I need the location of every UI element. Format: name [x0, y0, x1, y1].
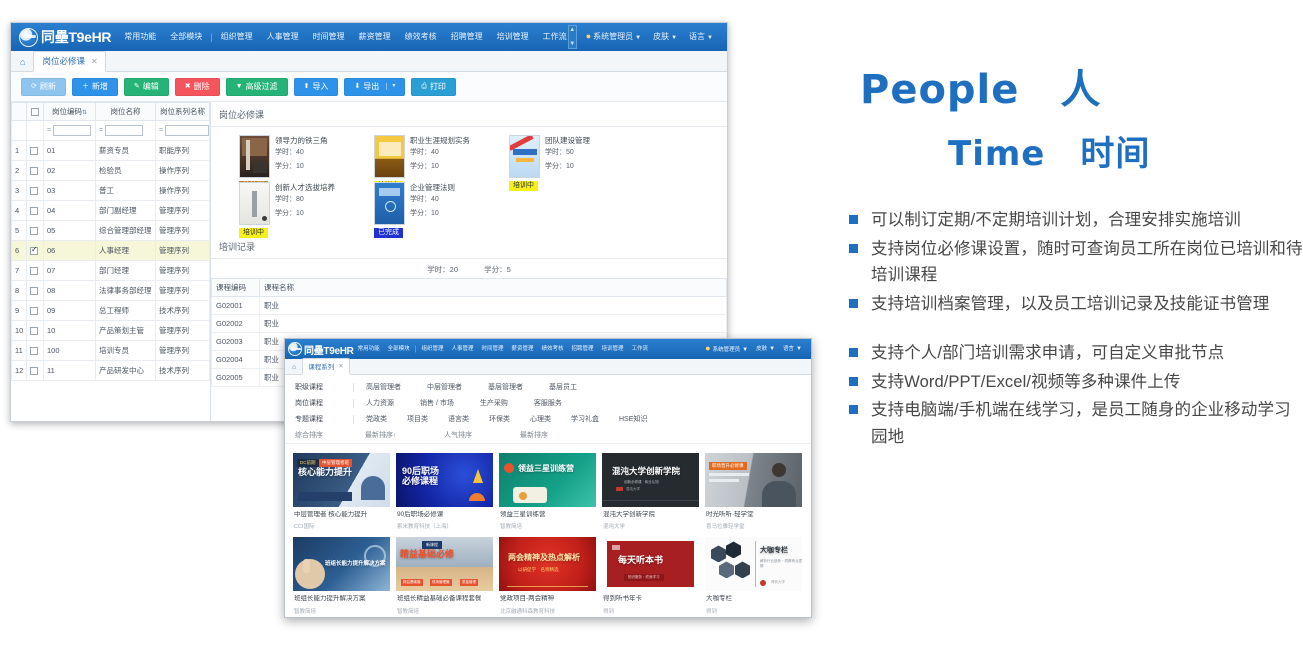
- row-checkbox[interactable]: [30, 167, 38, 175]
- cell-code: 09: [44, 300, 96, 320]
- window1-brand: 同壘T9eHR: [15, 27, 117, 47]
- course-title: 中层管理者 核心能力提升: [294, 511, 388, 519]
- nav-item-7[interactable]: 绩效考核: [538, 339, 568, 359]
- sort-asc-icon: ↑: [393, 433, 396, 439]
- course-name: 领导力的铁三角: [275, 135, 328, 146]
- course-card-row: 领导力的铁三角 学时：40 学分：10 待培训 职业生涯规划实务: [239, 135, 727, 178]
- window2-top-navbar: 同壘T9eHR 常用功能 全部模块 | 组织管理 人事管理 时间管理 薪资管理 …: [285, 339, 811, 359]
- nav-item-5[interactable]: 时间管理: [477, 339, 507, 359]
- col-position-code[interactable]: 岗位编码⇅: [44, 102, 96, 120]
- filter-option[interactable]: 中层管理者: [427, 382, 462, 392]
- cell-name: 部门经理: [96, 260, 156, 280]
- filter-option[interactable]: 客服服务: [534, 398, 562, 408]
- course-org: 北京融通科森教育科技: [500, 604, 594, 615]
- table-row[interactable]: 505综合管理部经理管理序列: [12, 220, 210, 240]
- filter-option[interactable]: 人力资源: [366, 398, 394, 408]
- position-table: 岗位编码⇅ 岗位名称 岗位系列名称 = = = 101: [11, 102, 210, 381]
- filter-option[interactable]: 基层员工: [549, 382, 577, 392]
- table-row[interactable]: 909总工程师技术序列: [12, 300, 210, 320]
- table-row[interactable]: 101薪资专员职能序列: [12, 140, 210, 160]
- filter-row-topic: 专题课程 党政类 项目类 语言类 环保类 心理类 学习礼盒 HSE知识: [285, 411, 811, 427]
- course-hours: 学时：40: [275, 146, 328, 160]
- table-row[interactable]: 202检验员操作序列: [12, 160, 210, 180]
- cell-series: 管理序列: [156, 200, 210, 220]
- window1-toolbar: ⟳刷新 ＋新增 ✎编辑 ✖删除 ▼高级过滤 ⬆导入 ⬇导出▾ ⎙打印: [11, 72, 727, 102]
- nav-item-6[interactable]: 薪资管理: [507, 339, 537, 359]
- cell-name: 综合管理部经理: [96, 220, 156, 240]
- chevron-down-icon: ▼: [635, 35, 641, 41]
- download-icon: ⬇: [354, 83, 360, 91]
- cell-name: 法律事务部经理: [96, 280, 156, 300]
- feature-description-panel: People 人 Time 时间 可以制订定期/不定期培训计划，合理安排实施培训…: [845, 0, 1303, 660]
- slide-canvas: 同壘T9eHR 常用功能 全部模块 | 组织管理 人事管理 时间管理 薪资管理 …: [0, 0, 1303, 660]
- row-checkbox[interactable]: [30, 227, 38, 235]
- select-all-checkbox[interactable]: [31, 108, 39, 116]
- plus-icon: ＋: [82, 83, 89, 91]
- tab-label: 岗位必修课: [42, 55, 85, 67]
- col-position-name[interactable]: 岗位名称: [96, 102, 156, 120]
- course-thumbnail: 班组长能力提升解决方案: [293, 537, 390, 591]
- course-thumbnail: 两会精神及热点解析 以研促学 名师精选: [499, 537, 596, 591]
- catalog-card[interactable]: 大咖专栏 解析行业趋势・洞察商业逻辑 得到大学 大咖专栏 得到: [705, 537, 802, 616]
- course-catalog-grid: DC前期 中层管理者班 核心能力提升 中层管理者 核心能力提升 CCI国际 90…: [285, 446, 811, 617]
- user-icon: ●: [586, 31, 591, 41]
- cell-name: 产品研发中心: [96, 360, 156, 380]
- bullet-square-icon: [849, 215, 858, 224]
- bullet-text: 支持培训档案管理，以及员工培训记录及技能证书管理: [871, 291, 1269, 318]
- export-button[interactable]: ⬇导出▾: [344, 78, 405, 96]
- course-card[interactable]: 创新人才选拔培养 学时：80 学分：10 培训中: [239, 182, 374, 225]
- language-menu[interactable]: 语言▼: [683, 23, 719, 52]
- cell-series: 操作序列: [156, 180, 210, 200]
- row-checkbox[interactable]: [30, 347, 38, 355]
- cross-icon: ✖: [185, 83, 191, 91]
- brand-name: 同壘T9eHR: [302, 342, 354, 357]
- card-body: 班组长精益基础必备课程套餐 智教简培: [396, 591, 493, 616]
- tab-course-series[interactable]: 课程系列 ✕: [302, 358, 349, 375]
- nav-item-10[interactable]: 工作流: [536, 23, 568, 51]
- cover-enterprise-icon: [374, 182, 405, 225]
- filter-option[interactable]: 环保类: [489, 414, 510, 424]
- cell-series: 职能序列: [156, 140, 210, 160]
- chevron-down-icon: ▼: [742, 347, 748, 353]
- card-body: 混沌大学创新学院 混沌大学: [602, 507, 699, 532]
- course-title: 党政项目-两会精神: [500, 595, 594, 603]
- course-thumbnail: 大咖专栏 解析行业趋势・洞察商业逻辑 得到大学: [705, 537, 802, 591]
- table-row[interactable]: G02001职业: [212, 296, 727, 314]
- filter-label: 职级课程: [295, 382, 353, 392]
- cell-series: 操作序列: [156, 160, 210, 180]
- nav-item-7[interactable]: 绩效考核: [398, 23, 444, 51]
- course-credits: 学分：10: [275, 160, 328, 174]
- cell-name: 总工程师: [96, 300, 156, 320]
- edit-button[interactable]: ✎编辑: [124, 78, 169, 96]
- course-hours: 学时：40: [410, 193, 455, 207]
- table-row[interactable]: G02002职业: [212, 314, 727, 332]
- course-org: CCI国际: [294, 519, 388, 530]
- catalog-card[interactable]: 职场晋升必修课 时光听听·轻学堂 喜马拉雅轻学堂: [705, 453, 802, 532]
- nav-item-4[interactable]: 人事管理: [447, 339, 477, 359]
- course-title: 混沌大学创新学院: [603, 511, 697, 519]
- catalog-card[interactable]: 混沌大学创新学院 创新必修课 · 商业认知 混沌大学 混沌大学创新学院 混沌大学: [602, 453, 699, 532]
- sort-bar: 综合排序 最新排序↑ 人气排序 最新排序: [285, 427, 811, 444]
- course-title: 大咖专栏: [706, 595, 800, 603]
- nav-item-0[interactable]: 常用功能: [354, 339, 384, 359]
- nav-item-9[interactable]: 培训管理: [490, 23, 536, 51]
- required-courses-list: 领导力的铁三角 学时：40 学分：10 待培训 职业生涯规划实务: [211, 127, 727, 233]
- nav-item-6[interactable]: 薪资管理: [352, 23, 398, 51]
- bullet-square-icon: [849, 244, 858, 253]
- catalog-card[interactable]: 每天听本书 知识服务・终身学习 得到听书年卡 得到: [602, 537, 699, 616]
- cell-code: 100: [44, 340, 96, 360]
- user-menu[interactable]: ●系统管理员▼: [580, 22, 647, 52]
- heading-people: People 人: [860, 57, 1101, 115]
- filter-input-code[interactable]: [53, 125, 91, 136]
- course-credits: 学分：10: [410, 207, 455, 221]
- filter-input-name[interactable]: [105, 125, 143, 136]
- row-checkbox[interactable]: [30, 287, 38, 295]
- nav-scroll-control[interactable]: ▲▼: [568, 25, 577, 49]
- course-credits: 学分：10: [275, 207, 335, 221]
- filter-option[interactable]: 基层管理者: [488, 382, 523, 392]
- course-org: 智教简培: [397, 604, 491, 615]
- catalog-card[interactable]: 新课程 精益基础必修 精益基础篇 现场管理篇 质量管理 班组长精益基础必备课程套…: [396, 537, 493, 616]
- filter-row-rank: 职级课程 高层管理者 中层管理者 基层管理者 基层员工: [285, 379, 811, 395]
- col-rownum: [12, 102, 27, 120]
- table-header-row: 岗位编码⇅ 岗位名称 岗位系列名称: [12, 102, 210, 120]
- training-records-heading: 培训记录: [211, 233, 727, 259]
- card-body: 领益三星训练营 智教简培: [499, 507, 596, 532]
- catalog-card[interactable]: 班组长能力提升解决方案 班组长能力提升解决方案 智教简培: [293, 537, 390, 616]
- row-checkbox[interactable]: [30, 187, 38, 195]
- user-menu[interactable]: ●系统管理员▼: [701, 338, 752, 364]
- course-thumbnail: 领益三星训练营: [499, 453, 596, 507]
- cell-series: 管理序列: [156, 340, 210, 360]
- bullet-text: 支持个人/部门培训需求申请，可自定义审批节点: [871, 340, 1224, 367]
- course-thumbnail: 职场晋升必修课: [705, 453, 802, 507]
- sort-latest[interactable]: 最新排序: [520, 430, 548, 440]
- bullet-square-icon: [849, 377, 858, 386]
- course-card-row: 创新人才选拔培养 学时：80 学分：10 培训中: [239, 182, 727, 225]
- course-hours: 学时：50: [545, 146, 590, 160]
- bullet-item: 支持Word/PPT/Excel/视频等多种课件上传: [847, 369, 1303, 396]
- col-select-all[interactable]: [27, 102, 44, 120]
- bullet-text: 可以制订定期/不定期培训计划，合理安排实施培训: [871, 207, 1241, 234]
- filter-option[interactable]: 高层管理者: [366, 382, 401, 392]
- import-button[interactable]: ⬆导入: [294, 78, 339, 96]
- row-checkbox[interactable]: [30, 367, 38, 375]
- window1-tabbar: ⌂ 岗位必修课 ✕: [11, 51, 727, 72]
- cell-series: 技术序列: [156, 300, 210, 320]
- cell-series: 技术序列: [156, 360, 210, 380]
- home-icon[interactable]: ⌂: [17, 57, 33, 71]
- language-menu[interactable]: 语言▼: [779, 338, 806, 363]
- course-title: 时光听听·轻学堂: [706, 511, 800, 519]
- course-thumbnail: 每天听本书 知识服务・终身学习: [602, 537, 699, 591]
- course-name: 团队建设管理: [545, 135, 590, 146]
- course-org: 索米教育科技（上海）: [397, 519, 491, 530]
- funnel-icon: ▼: [236, 83, 243, 91]
- home-icon[interactable]: ⌂: [290, 364, 302, 374]
- window1-nav-items: 常用功能 全部模块 | 组织管理 人事管理 时间管理 薪资管理 绩效考核 招聘管…: [117, 23, 568, 51]
- cell-series: 管理序列: [156, 320, 210, 340]
- nav-item-5[interactable]: 时间管理: [306, 23, 352, 51]
- nav-item-4[interactable]: 人事管理: [260, 23, 306, 51]
- window2-nav-items: 常用功能 全部模块 | 组织管理 人事管理 时间管理 薪资管理 绩效考核 招聘管…: [354, 339, 702, 359]
- course-info: 职业生涯规划实务 学时：40 学分：10: [410, 135, 470, 178]
- col-position-series[interactable]: 岗位系列名称: [156, 102, 210, 120]
- app-logo-icon: [288, 342, 302, 356]
- bullet-group-spacer: [847, 320, 1303, 340]
- row-checkbox[interactable]: [30, 307, 38, 315]
- course-org: 智教简培: [500, 519, 594, 530]
- bullet-item: 支持岗位必修课设置，随时可查询员工所在岗位已培训和待培训课程: [847, 236, 1303, 289]
- sort-icon: ⇅: [82, 110, 87, 116]
- course-info: 团队建设管理 学时：50 学分：10: [545, 135, 590, 178]
- filter-divider: [353, 399, 354, 408]
- nav-item-8[interactable]: 招聘管理: [444, 23, 490, 51]
- row-checkbox[interactable]: [30, 247, 38, 255]
- cell-code: 07: [44, 260, 96, 280]
- print-button[interactable]: ⎙打印: [411, 78, 456, 96]
- course-card[interactable]: 企业管理法则 学时：40 学分：10 已完成: [374, 182, 509, 225]
- course-name: 企业管理法则: [410, 182, 455, 193]
- catalog-card[interactable]: DC前期 中层管理者班 核心能力提升 中层管理者 核心能力提升 CCI国际: [293, 453, 390, 532]
- heading-time: Time 时间: [948, 126, 1150, 175]
- cell-name: 普工: [96, 180, 156, 200]
- bullet-square-icon: [849, 299, 858, 308]
- filter-option[interactable]: 心理类: [530, 414, 551, 424]
- course-name: 职业生涯规划实务: [410, 135, 470, 146]
- bullet-item: 支持个人/部门培训需求申请，可自定义审批节点: [847, 340, 1303, 367]
- catalog-card[interactable]: 90后职场必修课程 90后职场必修课 索米教育科技（上海）: [396, 453, 493, 532]
- summary-hours: 学时：20: [427, 265, 458, 274]
- advanced-filter-button[interactable]: ▼高级过滤: [226, 78, 288, 96]
- course-info: 领导力的铁三角 学时：40 学分：10: [275, 135, 328, 178]
- row-checkbox[interactable]: [30, 147, 38, 155]
- catalog-card[interactable]: 两会精神及热点解析 以研促学 名师精选 党政项目-两会精神 北京融通科森教育科技: [499, 537, 596, 616]
- course-catalog-window-front: 同壘T9eHR 常用功能 全部模块 | 组织管理 人事管理 时间管理 薪资管理 …: [284, 338, 812, 618]
- card-body: 90后职场必修课 索米教育科技（上海）: [396, 507, 493, 532]
- window2-nav-right: ●系统管理员▼ 皮肤▼ 语言▼: [701, 338, 808, 364]
- brand-name: 同壘T9eHR: [41, 27, 111, 47]
- filter-option[interactable]: 学习礼盒: [571, 414, 599, 424]
- chevron-down-icon: ▼: [707, 35, 713, 41]
- cell-series: 管理序列: [156, 260, 210, 280]
- status-badge: 培训中: [239, 228, 268, 239]
- filter-option[interactable]: 销售 / 市场: [420, 398, 454, 408]
- filter-row-position: 岗位课程 人力资源 销售 / 市场 生产采购 客服服务: [285, 395, 811, 411]
- course-thumbnail: DC前期 中层管理者班 核心能力提升: [293, 453, 390, 507]
- skin-menu[interactable]: 皮肤▼: [752, 338, 779, 363]
- bullet-square-icon: [849, 405, 858, 414]
- filter-option[interactable]: 生产采购: [480, 398, 508, 408]
- course-name: 创新人才选拔培养: [275, 182, 335, 193]
- cell-code: 11: [44, 360, 96, 380]
- filter-option[interactable]: 语言类: [448, 414, 469, 424]
- upload-icon: ⬆: [304, 83, 310, 91]
- filter-label: 岗位课程: [295, 398, 353, 408]
- cell-name: 部门副经理: [96, 200, 156, 220]
- card-body: 大咖专栏 得到: [705, 591, 802, 616]
- bullet-text: 支持Word/PPT/Excel/视频等多种课件上传: [871, 369, 1180, 396]
- table-row-selected[interactable]: 606人事经理管理序列: [12, 240, 210, 260]
- course-title: 班组长精益基础必备课程套餐: [397, 595, 491, 603]
- filter-label: 专题课程: [295, 414, 353, 424]
- nav-item-8[interactable]: 招聘管理: [568, 339, 598, 359]
- pencil-icon: ✎: [134, 83, 140, 91]
- cell-name: 人事经理: [96, 240, 156, 260]
- cell-code: 10: [44, 320, 96, 340]
- table-row[interactable]: 303普工操作序列: [12, 180, 210, 200]
- training-summary: 学时：20 学分：5: [211, 259, 727, 278]
- bullet-text: 支持岗位必修课设置，随时可查询员工所在岗位已培训和待培训课程: [871, 236, 1303, 289]
- app-logo-icon: [19, 28, 38, 47]
- course-org: 混沌大学: [603, 519, 697, 530]
- course-thumbnail: 混沌大学创新学院 创新必修课 · 商业认知 混沌大学: [602, 453, 699, 507]
- sort-popular[interactable]: 人气排序: [444, 430, 472, 440]
- status-badge: 已完成: [374, 228, 403, 239]
- cell-code: 01: [44, 140, 96, 160]
- close-icon[interactable]: ✕: [91, 57, 98, 66]
- filter-option[interactable]: HSE知识: [619, 414, 647, 424]
- nav-item-3[interactable]: 组织管理: [417, 339, 447, 359]
- course-filters: 职级课程 高层管理者 中层管理者 基层管理者 基层员工 岗位课程 人力资源 销售…: [285, 375, 811, 446]
- filter-cell-name[interactable]: =: [96, 120, 156, 140]
- nav-item-0[interactable]: 常用功能: [117, 23, 163, 51]
- cell-name: 产品策划主管: [96, 320, 156, 340]
- table-row[interactable]: 808法律事务部经理管理序列: [12, 280, 210, 300]
- bullet-item: 支持培训档案管理，以及员工培训记录及技能证书管理: [847, 291, 1303, 318]
- cell-series: 管理序列: [156, 240, 210, 260]
- bullet-item: 可以制订定期/不定期培训计划，合理安排实施培训: [847, 207, 1303, 234]
- tab-required-courses[interactable]: 岗位必修课 ✕: [33, 51, 105, 72]
- cell-code: 08: [44, 280, 96, 300]
- sort-comprehensive[interactable]: 综合排序: [295, 430, 353, 440]
- course-credits: 学分：10: [545, 160, 590, 174]
- printer-icon: ⎙: [421, 83, 427, 91]
- course-thumbnail: 90后职场必修课程: [396, 453, 493, 507]
- course-title: 90后职场必修课: [397, 511, 491, 519]
- refresh-button[interactable]: ⟳刷新: [21, 78, 66, 96]
- course-info: 企业管理法则 学时：40 学分：10: [410, 182, 455, 225]
- cover-innovate-icon: [239, 182, 270, 225]
- filter-input-series[interactable]: [165, 125, 209, 136]
- nav-item-10[interactable]: 工作流: [628, 339, 653, 359]
- nav-item-3[interactable]: 组织管理: [214, 23, 260, 51]
- cell-series: 管理序列: [156, 220, 210, 240]
- chevron-down-icon: ▼: [769, 346, 775, 352]
- card-body: 得到听书年卡 得到: [602, 591, 699, 616]
- summary-credits: 学分：5: [484, 265, 511, 274]
- catalog-card[interactable]: 领益三星训练营 领益三星训练营 智教简培: [499, 453, 596, 532]
- cell-code: 06: [44, 240, 96, 260]
- cell-code: 03: [44, 180, 96, 200]
- card-body: 党政项目-两会精神 北京融通科森教育科技: [499, 591, 596, 616]
- cell-code: 05: [44, 220, 96, 240]
- window1-top-navbar: 同壘T9eHR 常用功能 全部模块 | 组织管理 人事管理 时间管理 薪资管理 …: [11, 23, 727, 51]
- refresh-icon: ⟳: [31, 83, 37, 91]
- course-org: 得到: [603, 604, 697, 615]
- tab-label: 课程系列: [308, 361, 334, 371]
- window1-nav-right: ●系统管理员▼ 皮肤▼ 语言▼: [580, 22, 723, 52]
- bullet-text: 支持电脑端/手机端在线学习，是员工随身的企业移动学习园地: [871, 397, 1303, 450]
- course-hours: 学时：40: [410, 146, 470, 160]
- status-badge: 培训中: [509, 181, 538, 192]
- course-org: 得到: [706, 604, 800, 615]
- table-row[interactable]: 1211产品研发中心技术序列: [12, 360, 210, 380]
- cell-name: 检验员: [96, 160, 156, 180]
- col-course-name: 课程名称: [260, 278, 727, 296]
- course-title: 班组长能力提升解决方案: [294, 595, 388, 603]
- table-row[interactable]: 404部门副经理管理序列: [12, 200, 210, 220]
- course-card[interactable]: 领导力的铁三角 学时：40 学分：10 待培训: [239, 135, 374, 178]
- course-hours: 学时：80: [275, 193, 335, 207]
- add-button[interactable]: ＋新增: [72, 78, 118, 96]
- course-card[interactable]: 职业生涯规划实务 学时：40 学分：10 培训中: [374, 135, 509, 178]
- filter-cell-series[interactable]: =: [156, 120, 210, 140]
- cell-name: 培训专员: [96, 340, 156, 360]
- course-credits: 学分：10: [410, 160, 470, 174]
- chevron-down-icon: ▼: [671, 35, 677, 41]
- chevron-down-icon: ▾: [386, 83, 395, 90]
- row-checkbox[interactable]: [30, 327, 38, 335]
- bullet-square-icon: [849, 348, 858, 357]
- feature-bullet-list: 可以制订定期/不定期培训计划，合理安排实施培训 支持岗位必修课设置，随时可查询员…: [847, 207, 1303, 453]
- skin-menu[interactable]: 皮肤▼: [647, 23, 683, 52]
- close-icon[interactable]: ✕: [338, 362, 343, 370]
- course-card[interactable]: 团队建设管理 学时：50 学分：10 培训中: [509, 135, 644, 178]
- course-title: 领益三星训练营: [500, 511, 594, 519]
- table-row[interactable]: 707部门经理管理序列: [12, 260, 210, 280]
- delete-button[interactable]: ✖删除: [175, 78, 220, 96]
- table-filter-row: = = =: [12, 120, 210, 140]
- nav-item-1[interactable]: 全部模块: [163, 23, 209, 51]
- cell-code: 02: [44, 160, 96, 180]
- row-checkbox[interactable]: [30, 267, 38, 275]
- table-row[interactable]: 11100培训专员管理序列: [12, 340, 210, 360]
- filter-cell-code[interactable]: =: [44, 120, 96, 140]
- position-table-body: 101薪资专员职能序列 202检验员操作序列 303普工操作序列 404部门副经…: [12, 140, 210, 380]
- card-body: 时光听听·轻学堂 喜马拉雅轻学堂: [705, 507, 802, 532]
- col-course-code: 课程编码: [212, 278, 260, 296]
- records-header-row: 课程编码 课程名称: [212, 278, 727, 296]
- cell-code: 04: [44, 200, 96, 220]
- sort-newest[interactable]: 最新排序↑: [365, 430, 396, 440]
- course-title: 得到听书年卡: [603, 595, 697, 603]
- cell-series: 管理序列: [156, 280, 210, 300]
- course-org: 喜马拉雅轻学堂: [706, 519, 800, 530]
- table-row[interactable]: 1010产品策划主管管理序列: [12, 320, 210, 340]
- row-checkbox[interactable]: [30, 207, 38, 215]
- filter-option[interactable]: 项目类: [407, 414, 428, 424]
- course-info: 创新人才选拔培养 学时：80 学分：10: [275, 182, 335, 225]
- required-courses-heading: 岗位必修课: [211, 102, 727, 127]
- filter-option[interactable]: 党政类: [366, 414, 387, 424]
- course-thumbnail: 新课程 精益基础必修 精益基础篇 现场管理篇 质量管理: [396, 537, 493, 591]
- user-icon: ●: [705, 343, 710, 353]
- bullet-item: 支持电脑端/手机端在线学习，是员工随身的企业移动学习园地: [847, 397, 1303, 450]
- nav-item-9[interactable]: 培训管理: [598, 339, 628, 359]
- cover-leader-icon: [239, 135, 270, 178]
- cell-name: 薪资专员: [96, 140, 156, 160]
- filter-divider: [353, 415, 354, 424]
- position-grid-pane[interactable]: 岗位编码⇅ 岗位名称 岗位系列名称 = = = 101: [11, 102, 211, 422]
- chevron-down-icon: ▼: [796, 346, 802, 352]
- nav-item-1[interactable]: 全部模块: [384, 339, 414, 359]
- card-body: 中层管理者 核心能力提升 CCI国际: [293, 507, 390, 532]
- course-org: 智教简培: [294, 604, 388, 615]
